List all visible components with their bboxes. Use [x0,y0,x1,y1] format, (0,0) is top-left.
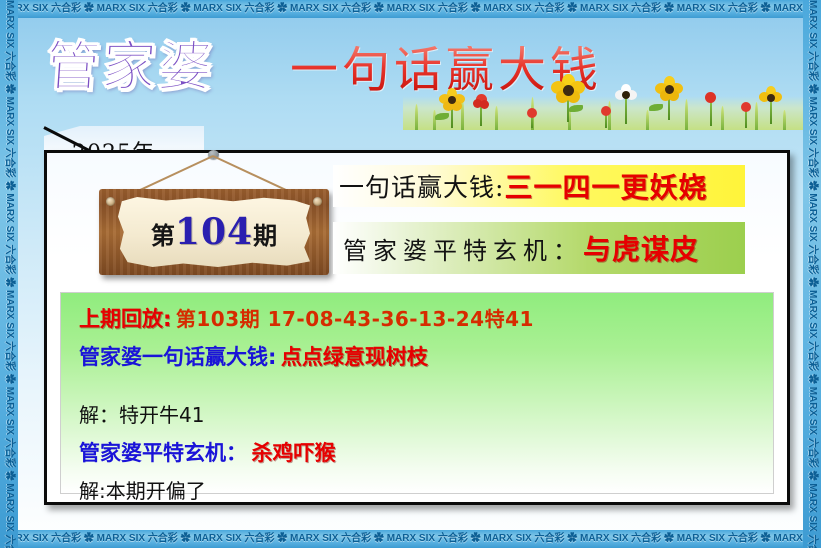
screw-right-icon [313,197,322,206]
replay-value: 第103期 17-08-43-36-13-24特41 [176,307,534,331]
white-flower-icon [615,84,637,124]
torn-paper: 第104期 [118,197,310,267]
banner-ping-te-xuan-ji: 管家婆平特玄机：与虎谋皮 [333,222,745,274]
prev-xuanji-line: 管家婆平特玄机： 杀鸡吓猴 [79,443,755,464]
screw-left-icon [106,197,115,206]
grass-blade-icon [755,102,758,130]
poster-root: 管家婆 一句话赢大钱 [0,0,821,548]
issue-number: 104 [175,211,253,253]
issue-suffix: 期 [253,221,277,250]
prev-xuanji-label: 管家婆平特玄机： [79,441,247,465]
prev-xuanji-answer: 解:本期开偏了 [79,481,755,501]
grass-blade-icon [433,110,436,130]
main-content-card: 第104期 一句话赢大钱:三一四一更妖娆 管家婆平特玄机：与虎谋皮 上期回放: … [44,150,790,505]
red-flower-icon [525,108,539,128]
prev-slogan-line: 管家婆一句话赢大钱: 点点绿意现树枝 [79,347,755,368]
issue-sign: 第104期 [99,189,329,289]
grass-blade-icon [783,110,786,130]
border-strip-text: MARX SIX 六合彩 ✿ MARX SIX 六合彩 ✿ MARX SIX 六… [0,0,821,18]
red-flower-icon [473,94,489,126]
prev-xuanji-value: 杀鸡吓猴 [251,441,335,465]
banner-value: 三一四一更妖娆 [504,166,707,206]
previous-result-box: 上期回放: 第103期 17-08-43-36-13-24特41 管家婆一句话赢… [60,292,774,494]
yellow-flower-icon [551,74,585,122]
prev-slogan-answer: 解：特开牛41 [79,405,755,425]
red-flower-icon [703,92,719,126]
yellow-flower-icon [439,88,465,128]
prev-slogan-value: 点点绿意现树枝 [281,345,428,369]
header-banner: 管家婆 一句话赢大钱 [18,18,803,130]
grass-blade-icon [495,106,498,130]
banner-label: 管家婆平特玄机： [343,231,583,266]
red-flower-icon [599,106,613,128]
yellow-flower-icon [759,86,783,124]
border-strip-text: MARX SIX 六合彩 ✿ MARX SIX 六合彩 ✿ MARX SIX 六… [0,530,821,548]
brand-title: 管家婆 [44,40,216,94]
replay-label: 上期回放: [79,307,171,331]
red-flower-icon [739,102,753,128]
grass-blade-icon [646,110,649,130]
border-top: MARX SIX 六合彩 ✿ MARX SIX 六合彩 ✿ MARX SIX 六… [0,0,821,18]
border-strip-text: MARX SIX 六合彩 ✿ MARX SIX 六合彩 ✿ MARX SIX 六… [803,0,821,548]
banner-label: 一句话赢大钱: [339,168,504,204]
border-left: MARX SIX 六合彩 ✿ MARX SIX 六合彩 ✿ MARX SIX 六… [0,0,18,548]
flower-meadow-decoration [403,74,803,130]
grass-blade-icon [721,106,724,130]
yellow-flower-icon [655,76,683,120]
issue-prefix: 第 [151,221,175,250]
banner-value: 与虎谋皮 [583,228,699,268]
border-strip-text: MARX SIX 六合彩 ✿ MARX SIX 六合彩 ✿ MARX SIX 六… [0,0,18,548]
border-right: MARX SIX 六合彩 ✿ MARX SIX 六合彩 ✿ MARX SIX 六… [803,0,821,548]
replay-line: 上期回放: 第103期 17-08-43-36-13-24特41 [79,309,755,330]
border-bottom: MARX SIX 六合彩 ✿ MARX SIX 六合彩 ✿ MARX SIX 六… [0,530,821,548]
grass-blade-icon [685,99,688,130]
prev-slogan-label: 管家婆一句话赢大钱: [79,345,276,369]
grass-blade-icon [415,104,418,130]
banner-yi-ju-hua-ying-da-qian: 一句话赢大钱:三一四一更妖娆 [333,165,745,207]
issue-number-text: 第104期 [151,214,277,250]
